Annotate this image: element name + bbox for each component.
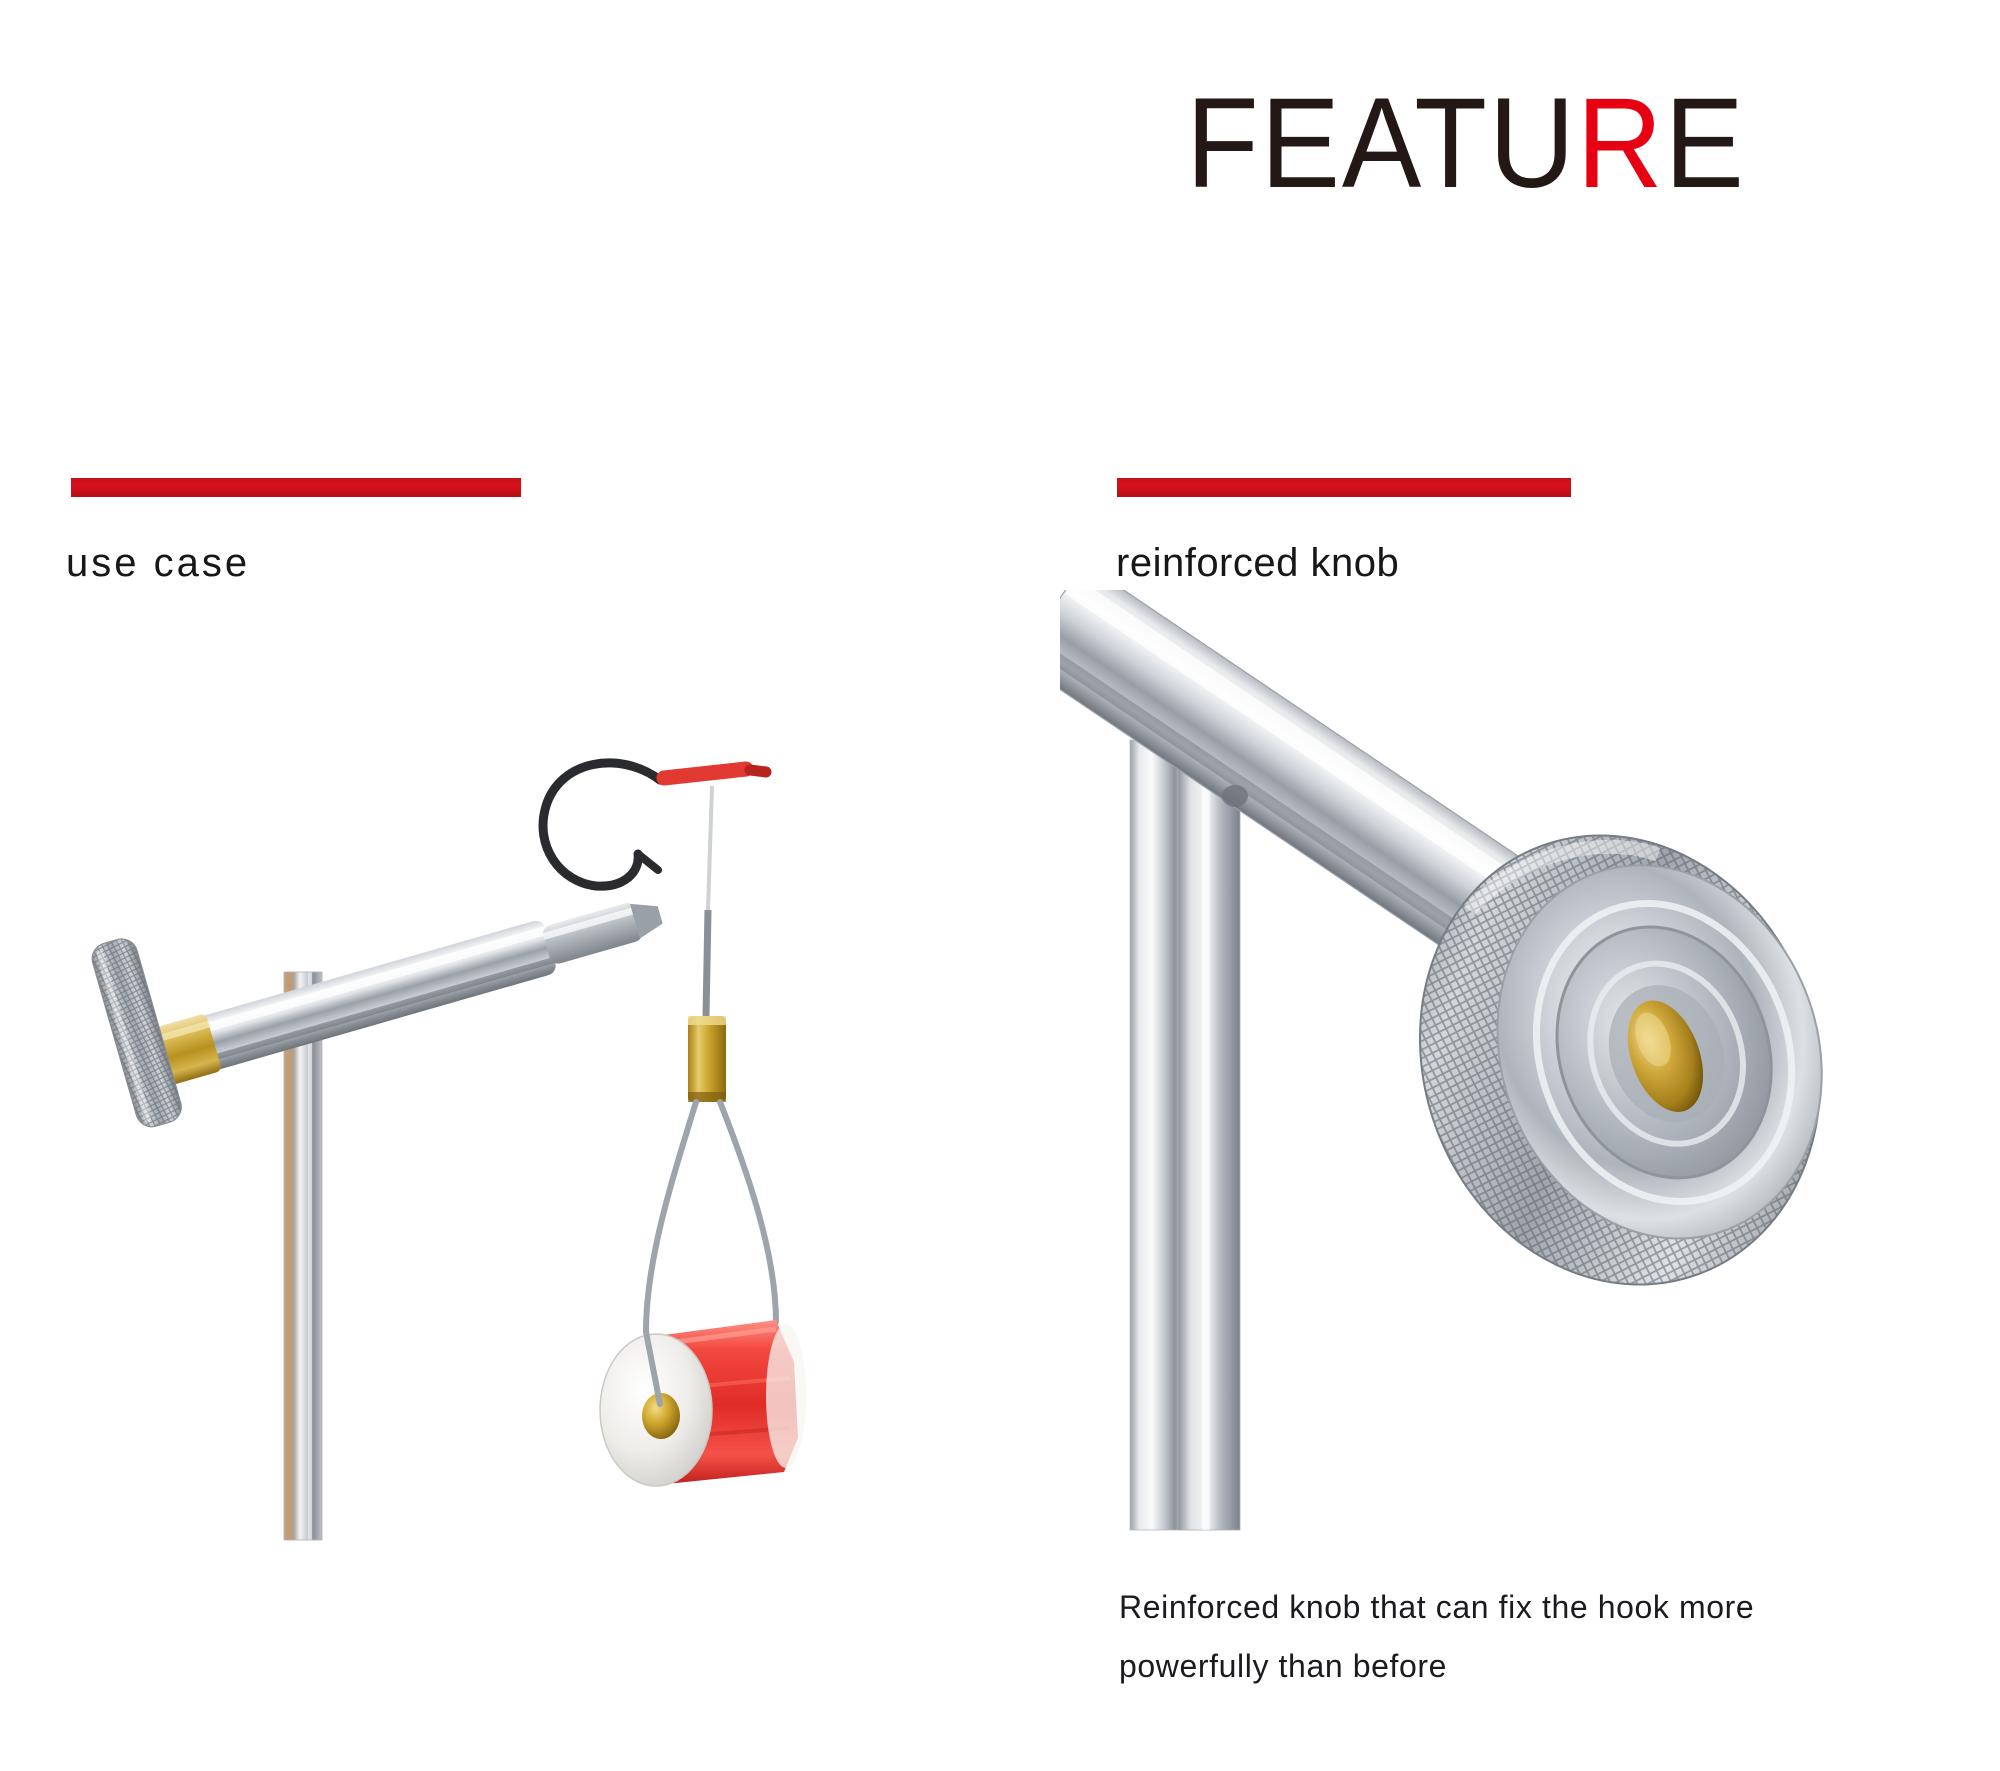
section-rule-reinforced-knob xyxy=(1117,478,1571,497)
page-title-tail: E xyxy=(1664,72,1745,215)
section-label-reinforced-knob: reinforced knob xyxy=(1116,543,1399,583)
bobbin-wire-arms xyxy=(646,1102,776,1332)
page-title-main: FEATU xyxy=(1186,72,1577,215)
section-label-use-case: use case xyxy=(66,543,250,583)
pivot-bolt xyxy=(1222,785,1248,807)
section-rule-use-case xyxy=(71,478,521,497)
stand-post-rear xyxy=(1130,740,1182,1530)
caption-line-2: powerfully than before xyxy=(1119,1637,1939,1696)
caption-line-1: Reinforced knob that can fix the hook mo… xyxy=(1119,1578,1939,1637)
page-title: FEATURE xyxy=(1186,80,1746,208)
hook-red-thread-wrap xyxy=(664,769,746,778)
feature-page: FEATURE use case xyxy=(0,0,2000,1771)
tool-vertical-post xyxy=(284,972,322,1540)
photo-reinforced-knob xyxy=(1060,590,1960,1550)
fish-hook xyxy=(543,763,766,886)
thread-line xyxy=(706,786,712,1016)
brass-bobbin-tube xyxy=(688,1016,726,1102)
stand-post-front xyxy=(1178,686,1240,1530)
tool-main-shaft xyxy=(152,885,668,1086)
photo-use-case xyxy=(60,620,880,1560)
thread-spool xyxy=(600,1320,806,1486)
page-title-accent-letter: R xyxy=(1577,72,1665,215)
caption-reinforced-knob: Reinforced knob that can fix the hook mo… xyxy=(1119,1578,1939,1696)
